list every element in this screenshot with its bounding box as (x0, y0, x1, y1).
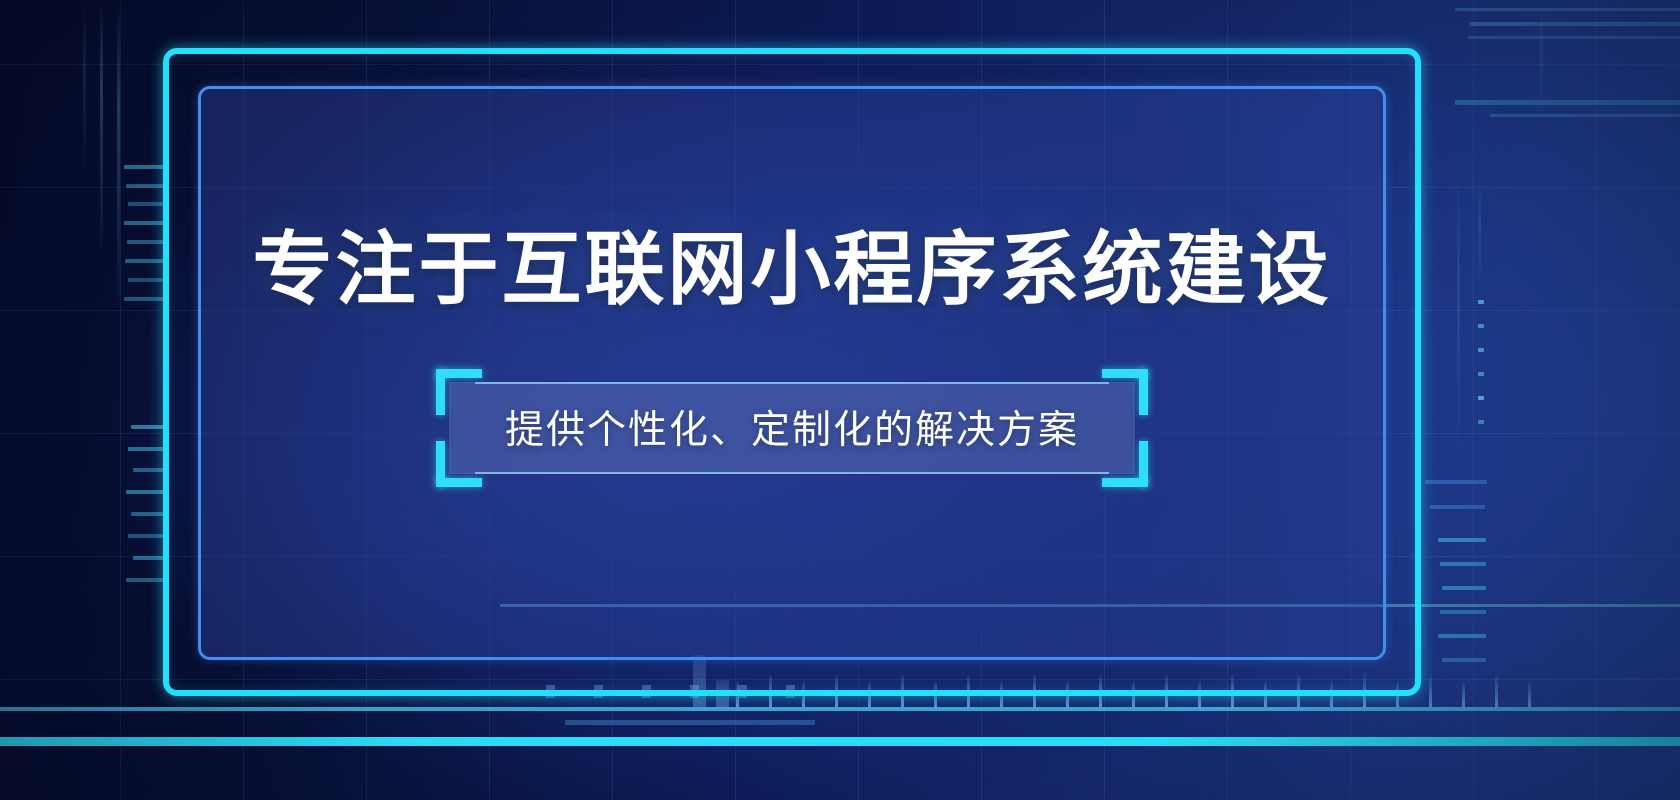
corner-bracket-bottom-right-icon (1102, 441, 1148, 487)
corner-bracket-bottom-left-icon (436, 441, 482, 487)
corner-bracket-top-right-icon (1102, 369, 1148, 415)
corner-bracket-top-left-icon (436, 369, 482, 415)
subtitle-panel: 提供个性化、定制化的解决方案 (449, 382, 1135, 474)
banner-stage: 专注于互联网小程序系统建设 提供个性化、定制化的解决方案 (0, 0, 1680, 800)
banner-content: 专注于互联网小程序系统建设 提供个性化、定制化的解决方案 (198, 86, 1386, 660)
subtitle-text: 提供个性化、定制化的解决方案 (505, 399, 1079, 455)
page-title: 专注于互联网小程序系统建设 (253, 230, 1332, 310)
subtitle-panel-wrap: 提供个性化、定制化的解决方案 (449, 382, 1135, 474)
